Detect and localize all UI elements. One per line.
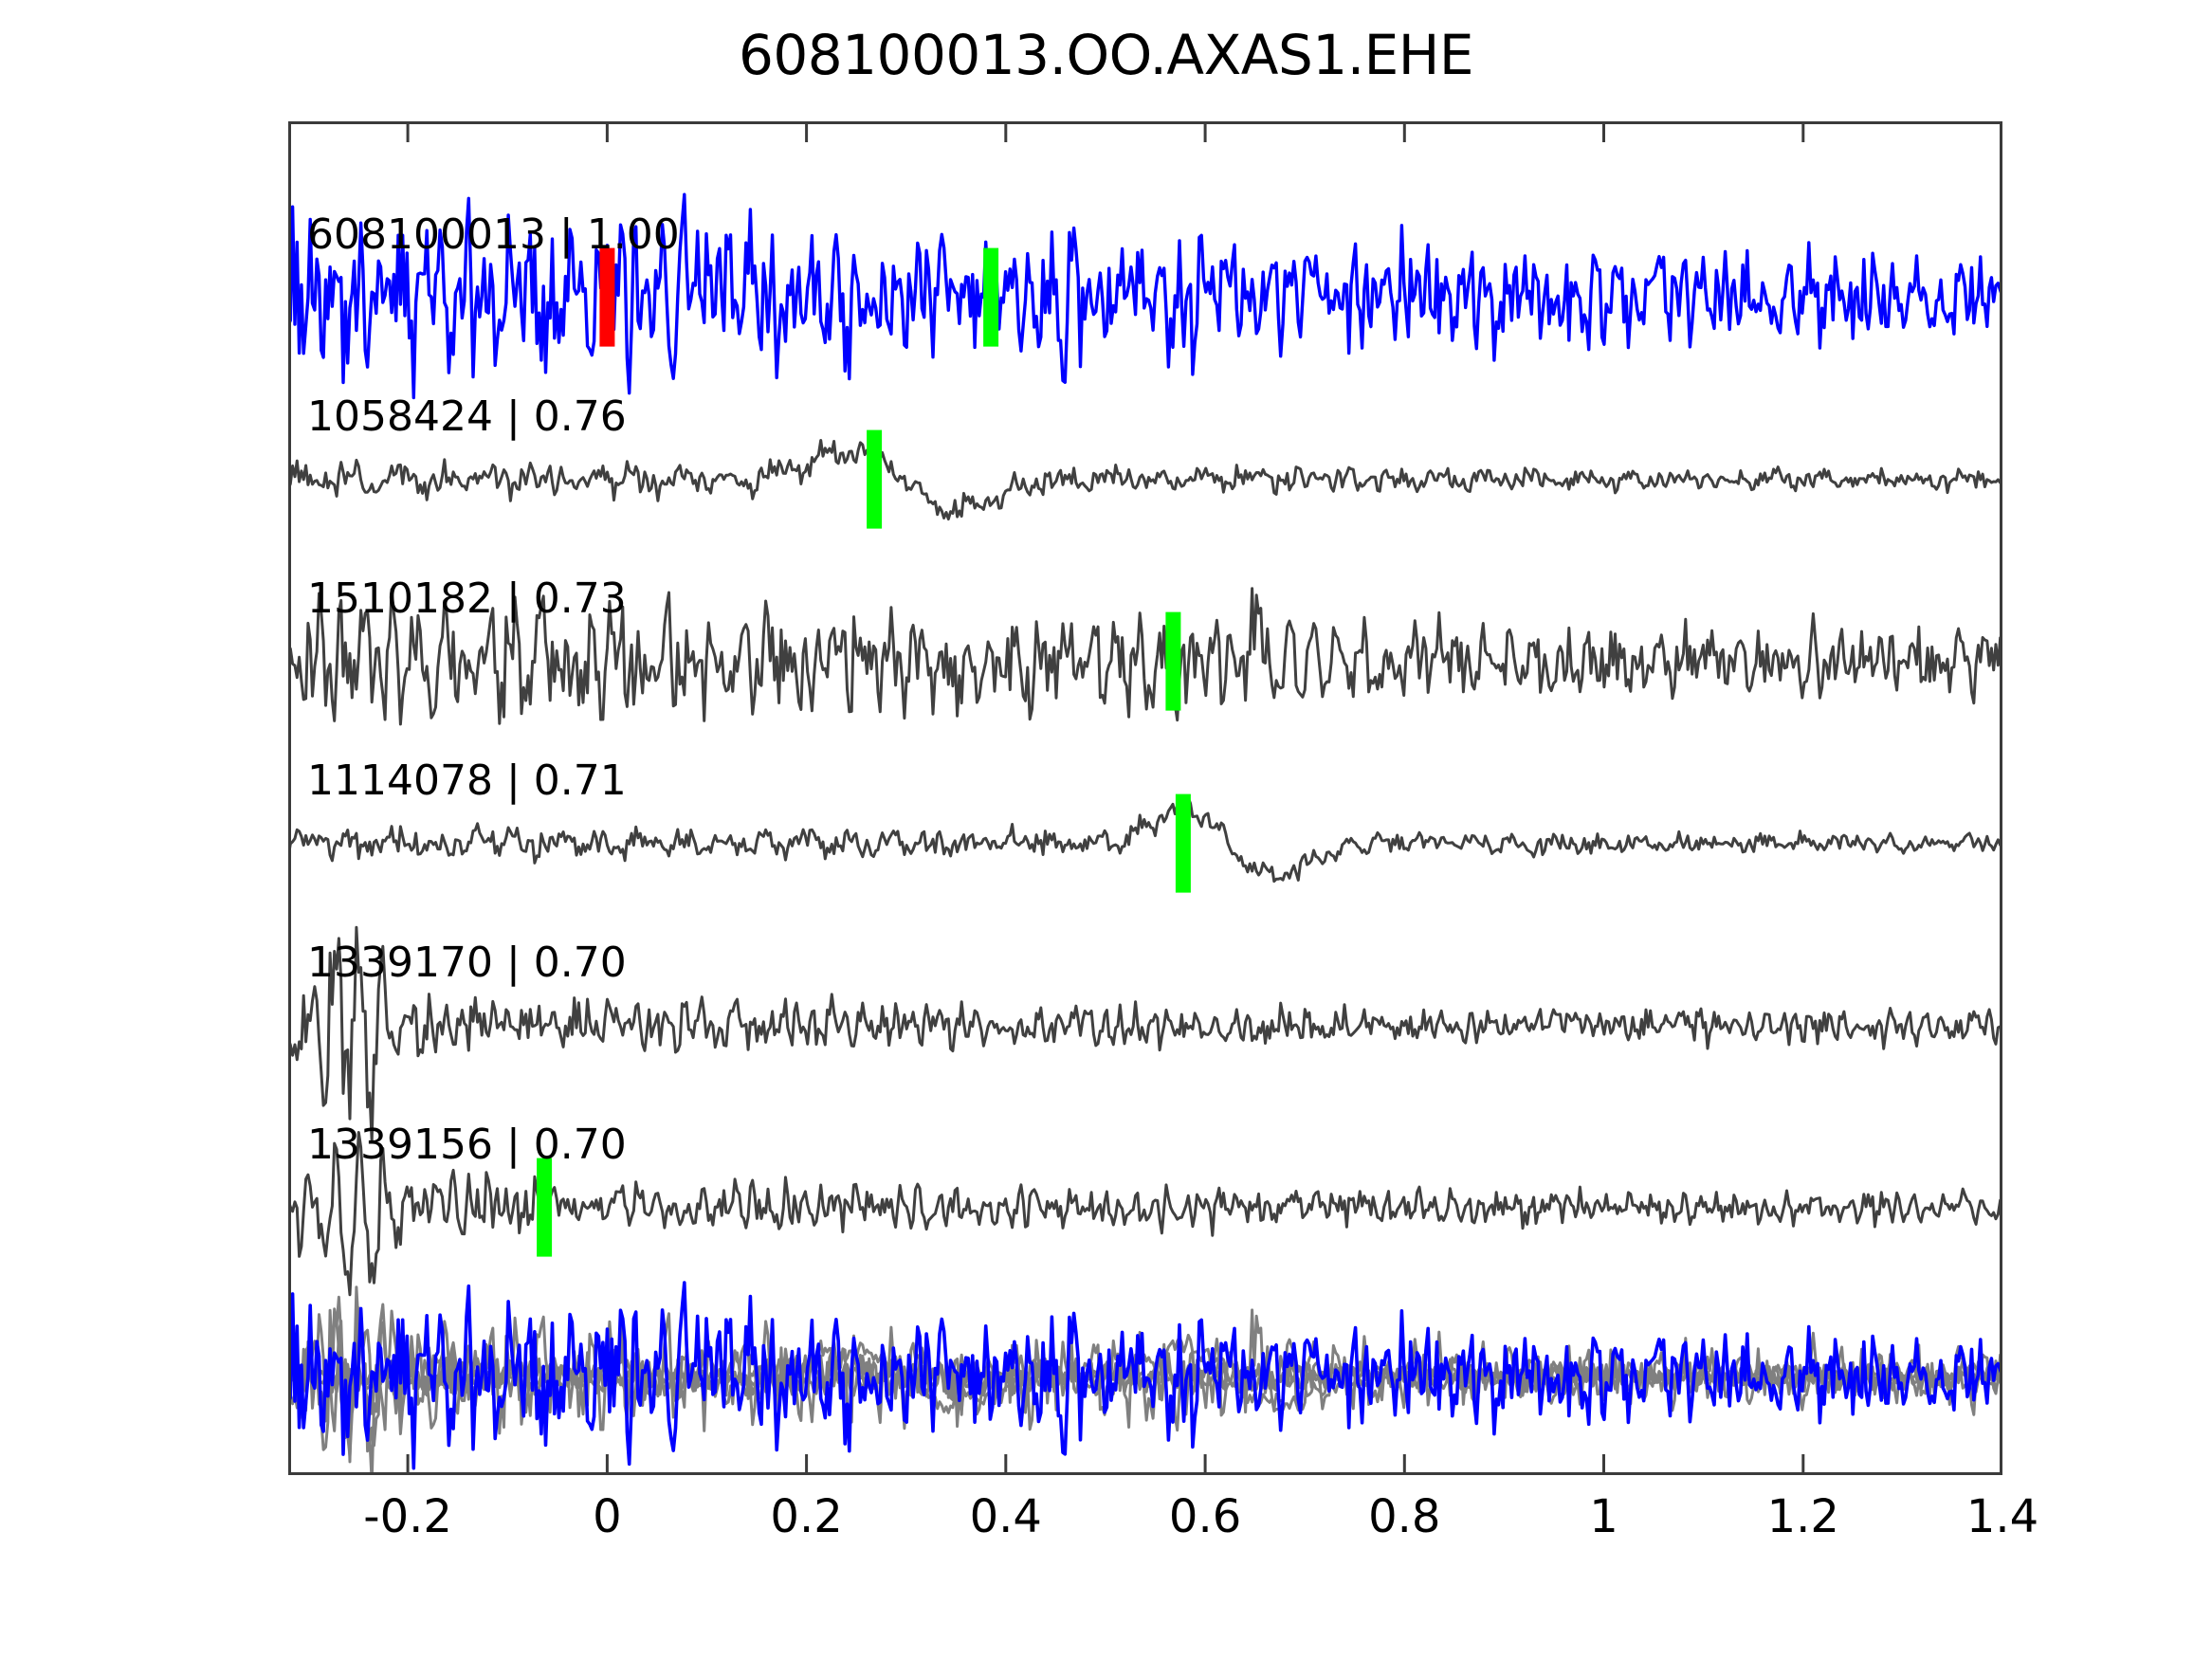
x-tick-label: 0.8: [1368, 1490, 1440, 1543]
pick-marker-detected-1339156: [537, 1158, 552, 1257]
x-tick-label: 0.4: [970, 1490, 1042, 1543]
x-tick-label: -0.2: [363, 1490, 452, 1543]
seismogram-figure: 608100013.OO.AXAS1.EHE 608100013 | 1.001…: [0, 0, 2212, 1659]
pick-marker-detected-1510182: [1165, 612, 1180, 711]
pick-marker-reference-608100013: [599, 248, 614, 347]
waveform-trace-1058424: [288, 441, 2002, 520]
x-tick-label: 0.6: [1169, 1490, 1241, 1543]
pick-marker-detected-1114078: [1176, 794, 1191, 893]
trace-label-1339156: 1339156 | 0.70: [307, 1121, 627, 1169]
trace-label-1510182: 1510182 | 0.73: [307, 574, 627, 623]
x-tick-label: 1: [1589, 1490, 1618, 1543]
trace-label-1058424: 1058424 | 0.76: [307, 392, 627, 441]
stack-trace-608100013: [288, 1283, 2002, 1468]
trace-label-608100013: 608100013 | 1.00: [307, 210, 680, 259]
waveform-trace-1114078: [288, 798, 2002, 882]
x-axis-tick-labels: -0.200.20.40.60.811.21.4: [288, 1490, 2002, 1566]
x-tick-label: 0.2: [770, 1490, 842, 1543]
x-tick-label: 0: [593, 1490, 622, 1543]
page-title: 608100013.OO.AXAS1.EHE: [0, 23, 2212, 87]
x-tick-label: 1.2: [1767, 1490, 1839, 1543]
pick-marker-detected-608100013: [983, 248, 998, 347]
pick-marker-detected-1058424: [867, 430, 882, 529]
trace-label-1339170: 1339170 | 0.70: [307, 939, 627, 987]
x-tick-label: 1.4: [1966, 1490, 2038, 1543]
trace-label-1114078: 1114078 | 0.71: [307, 757, 627, 805]
